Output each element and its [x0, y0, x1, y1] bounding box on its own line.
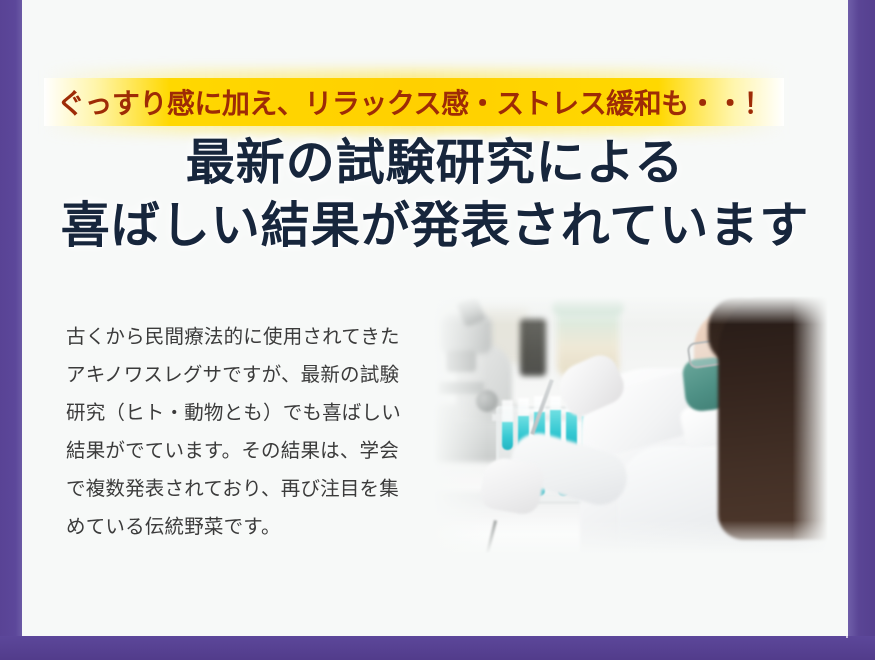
researcher-hair	[718, 296, 828, 540]
frame-border-bottom	[0, 636, 875, 660]
banner-text: ぐっすり感に加え、リラックス感・ストレス緩和も・・！	[57, 82, 771, 122]
test-tube-liquid	[502, 422, 513, 450]
microscope-focus-knob	[476, 390, 498, 412]
frame-border-right	[848, 0, 875, 660]
highlight-banner: ぐっすり感に加え、リラックス感・ストレス緩和も・・！	[44, 78, 784, 126]
gloved-hand-lower	[478, 455, 546, 517]
microscope-objective-lens	[446, 350, 476, 372]
headline-line-1: 最新の試験研究による	[22, 132, 848, 194]
lab-researcher-photo	[432, 296, 828, 554]
dark-bottle	[520, 318, 546, 376]
reagent-jar-lid	[552, 298, 624, 314]
promo-page: ぐっすり感に加え、リラックス感・ストレス緩和も・・！ 最新の試験研究による 喜ば…	[0, 0, 875, 660]
frame-border-left	[0, 0, 22, 660]
headline-line-2: 喜ばしい結果が発表されています	[22, 194, 848, 258]
microscope-stage	[438, 382, 484, 394]
photo-scene	[432, 296, 828, 554]
page-title: 最新の試験研究による 喜ばしい結果が発表されています	[22, 132, 848, 258]
body-paragraph: 古くから民間療法的に使用されてきたアキノワスレグサですが、最新の試験研究（ヒト・…	[66, 318, 418, 546]
